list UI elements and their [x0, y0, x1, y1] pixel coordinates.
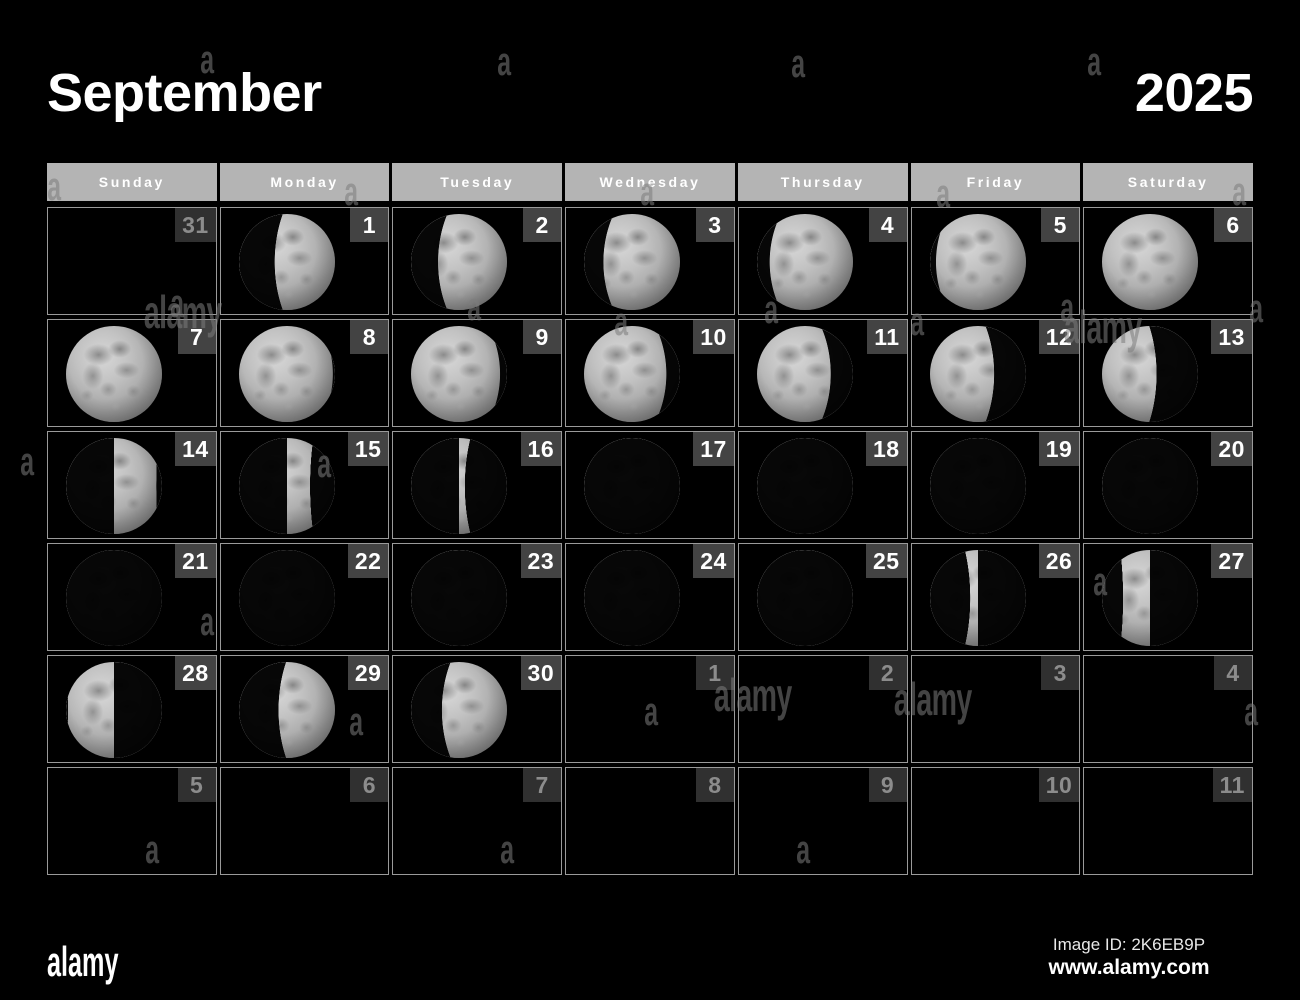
- calendar-page: September 2025 SundayMondayTuesdayWednes…: [0, 0, 1300, 1000]
- moon-phase-icon: [930, 326, 1026, 422]
- day-cell-next-4[interactable]: 4: [1083, 655, 1253, 763]
- day-number-badge: 4: [869, 208, 907, 242]
- week-row: 2829301234: [47, 655, 1253, 763]
- day-number-badge: 7: [178, 320, 216, 354]
- weekday-label: Thursday: [781, 174, 865, 190]
- moon-phase-icon: [1102, 550, 1198, 646]
- year-title: 2025: [1135, 66, 1253, 120]
- day-cell-current-13[interactable]: 13: [1083, 319, 1253, 427]
- day-cell-current-19[interactable]: 19: [911, 431, 1081, 539]
- week-row: 567891011: [47, 767, 1253, 875]
- moon-phase-icon: [1102, 326, 1198, 422]
- day-cell-current-20[interactable]: 20: [1083, 431, 1253, 539]
- moon-phase-icon: [757, 438, 853, 534]
- day-number-badge: 21: [175, 544, 216, 578]
- moon-shadow: [411, 214, 507, 310]
- day-number-badge: 2: [523, 208, 561, 242]
- day-cell-next-9[interactable]: 9: [738, 767, 908, 875]
- day-cell-next-1[interactable]: 1: [565, 655, 735, 763]
- moon-disc-waxing-crescent: [1102, 550, 1198, 646]
- weekday-label: Wednesday: [600, 174, 701, 190]
- moon-disc-waning-gibbous: [757, 326, 853, 422]
- moon-shadow: [584, 326, 680, 422]
- day-number-badge: 14: [175, 432, 216, 466]
- moon-phase-icon: [239, 326, 335, 422]
- weekday-header-monday: Monday: [220, 163, 390, 201]
- moon-disc-waning-crescent: [930, 438, 1026, 534]
- week-row: 14151617181920: [47, 431, 1253, 539]
- moon-phase-icon: [239, 214, 335, 310]
- day-number-badge: 1: [350, 208, 388, 242]
- day-number-badge: 5: [1041, 208, 1079, 242]
- moon-shadow: [930, 550, 1026, 646]
- moon-disc-waning-crescent: [1102, 438, 1198, 534]
- day-cell-current-11[interactable]: 11: [738, 319, 908, 427]
- day-cell-current-26[interactable]: 26: [911, 543, 1081, 651]
- day-number-badge: 27: [1211, 544, 1252, 578]
- moon-phase-icon: [66, 326, 162, 422]
- watermark-letter: a: [20, 440, 34, 485]
- moon-phase-icon: [584, 438, 680, 534]
- moon-phase-icon: [930, 550, 1026, 646]
- day-number-badge: 3: [696, 208, 734, 242]
- day-cell-current-7[interactable]: 7: [47, 319, 217, 427]
- week-row: 21222324252627: [47, 543, 1253, 651]
- day-number-badge: 29: [348, 656, 389, 690]
- weekday-header-saturday: Saturday: [1083, 163, 1253, 201]
- day-number-badge: 8: [350, 320, 388, 354]
- moon-disc-waxing-crescent: [930, 550, 1026, 646]
- weekday-header-tuesday: Tuesday: [392, 163, 562, 201]
- moon-shadow: [239, 438, 335, 534]
- moon-disc-full-moon: [66, 326, 162, 422]
- day-cell-current-2[interactable]: 2: [392, 207, 562, 315]
- moon-shadow: [411, 326, 507, 422]
- day-number-badge: 17: [693, 432, 734, 466]
- moon-disc-waxing-gibbous: [1102, 214, 1198, 310]
- day-number-badge: 4: [1214, 656, 1252, 690]
- day-cell-next-7[interactable]: 7: [392, 767, 562, 875]
- day-cell-current-16[interactable]: 16: [392, 431, 562, 539]
- moon-phase-icon: [411, 662, 507, 758]
- day-cell-current-24[interactable]: 24: [565, 543, 735, 651]
- moon-phase-icon: [757, 214, 853, 310]
- moon-disc-first-quarter: [66, 662, 162, 758]
- moon-phase-icon: [757, 326, 853, 422]
- moon-shadow: [239, 214, 335, 310]
- day-cell-current-28[interactable]: 28: [47, 655, 217, 763]
- moon-phase-icon: [930, 438, 1026, 534]
- moon-disc-waning-gibbous: [930, 326, 1026, 422]
- day-cell-current-21[interactable]: 21: [47, 543, 217, 651]
- day-cell-current-10[interactable]: 10: [565, 319, 735, 427]
- moon-shadow: [930, 438, 1026, 534]
- weekday-label: Monday: [270, 174, 339, 190]
- weekday-label: Saturday: [1128, 174, 1209, 190]
- day-number-badge: 8: [696, 768, 734, 802]
- day-number-badge: 23: [521, 544, 562, 578]
- day-cell-current-25[interactable]: 25: [738, 543, 908, 651]
- moon-disc-new-moon: [66, 550, 162, 646]
- day-number-badge: 6: [1214, 208, 1252, 242]
- moon-shadow: [1102, 550, 1198, 646]
- day-number-badge: 28: [175, 656, 216, 690]
- day-number-badge: 24: [693, 544, 734, 578]
- moon-disc-waxing-gibbous: [584, 214, 680, 310]
- moon-disc-waning-gibbous: [239, 326, 335, 422]
- moon-shadow: [411, 662, 507, 758]
- day-number-badge: 10: [693, 320, 734, 354]
- day-cell-next-11[interactable]: 11: [1083, 767, 1253, 875]
- footer-bar: alamy Image ID: 2K6EB9P www.alamy.com: [0, 926, 1300, 1000]
- day-cell-next-6[interactable]: 6: [220, 767, 390, 875]
- day-number-badge: 26: [1039, 544, 1080, 578]
- day-number-badge: 20: [1211, 432, 1252, 466]
- day-number-badge: 6: [350, 768, 388, 802]
- moon-shadow: [239, 662, 335, 758]
- moon-disc-waning-crescent: [584, 438, 680, 534]
- day-number-badge: 22: [348, 544, 389, 578]
- moon-disc-waning-gibbous: [1102, 326, 1198, 422]
- moon-disc-waxing-gibbous: [411, 214, 507, 310]
- day-cell-current-29[interactable]: 29: [220, 655, 390, 763]
- day-cell-next-8[interactable]: 8: [565, 767, 735, 875]
- moon-shadow: [239, 326, 335, 422]
- day-cell-previous-31[interactable]: 31: [47, 207, 217, 315]
- day-number-badge: 16: [521, 432, 562, 466]
- moon-disc-waning-gibbous: [584, 326, 680, 422]
- day-number-badge: 5: [178, 768, 216, 802]
- weekday-header-wednesday: Wednesday: [565, 163, 735, 201]
- alamy-logo: alamy: [47, 938, 118, 986]
- day-cell-current-15[interactable]: 15: [220, 431, 390, 539]
- day-number-badge: 3: [1041, 656, 1079, 690]
- day-cell-current-14[interactable]: 14: [47, 431, 217, 539]
- moon-phase-icon: [1102, 438, 1198, 534]
- moon-phase-icon: [1102, 214, 1198, 310]
- moon-shadow: [411, 438, 507, 534]
- moon-phase-icon: [411, 214, 507, 310]
- moon-phase-icon: [66, 550, 162, 646]
- moon-shadow: [1102, 438, 1198, 534]
- moon-shadow: [411, 550, 507, 646]
- moon-disc-last-quarter: [66, 438, 162, 534]
- day-cell-current-5[interactable]: 5: [911, 207, 1081, 315]
- day-cell-current-4[interactable]: 4: [738, 207, 908, 315]
- moon-phase-icon: [757, 550, 853, 646]
- day-number-badge: 13: [1211, 320, 1252, 354]
- moon-shadow: [239, 550, 335, 646]
- day-number-badge: 19: [1039, 432, 1080, 466]
- moon-shadow: [584, 550, 680, 646]
- calendar-weeks: 3112345678910111213141516171819202122232…: [47, 207, 1253, 875]
- moon-phase-icon: [411, 438, 507, 534]
- moon-shadow: [757, 326, 853, 422]
- calendar-grid: SundayMondayTuesdayWednesdayThursdayFrid…: [47, 163, 1253, 875]
- moon-disc-waning-crescent: [411, 438, 507, 534]
- moon-shadow: [584, 214, 680, 310]
- day-cell-current-1[interactable]: 1: [220, 207, 390, 315]
- moon-phase-icon: [239, 662, 335, 758]
- day-cell-current-27[interactable]: 27: [1083, 543, 1253, 651]
- moon-phase-icon: [411, 550, 507, 646]
- day-number-badge: 9: [523, 320, 561, 354]
- day-number-badge: 1: [696, 656, 734, 690]
- footer-meta: Image ID: 2K6EB9P www.alamy.com: [1004, 934, 1254, 980]
- month-title: September: [47, 66, 322, 120]
- moon-shadow: [66, 662, 162, 758]
- moon-shadow: [930, 214, 1026, 310]
- moon-phase-icon: [239, 550, 335, 646]
- moon-shadow: [757, 214, 853, 310]
- moon-disc-waxing-crescent: [757, 550, 853, 646]
- day-cell-current-6[interactable]: 6: [1083, 207, 1253, 315]
- day-number-badge: 18: [866, 432, 907, 466]
- weekday-label: Tuesday: [440, 174, 514, 190]
- moon-shadow: [757, 550, 853, 646]
- moon-shadow: [66, 438, 162, 534]
- weekday-header-row: SundayMondayTuesdayWednesdayThursdayFrid…: [47, 163, 1253, 201]
- day-cell-next-5[interactable]: 5: [47, 767, 217, 875]
- day-cell-current-18[interactable]: 18: [738, 431, 908, 539]
- moon-shadow: [66, 550, 162, 646]
- moon-phase-icon: [239, 438, 335, 534]
- day-cell-current-22[interactable]: 22: [220, 543, 390, 651]
- day-cell-current-3[interactable]: 3: [565, 207, 735, 315]
- day-number-badge: 31: [175, 208, 216, 242]
- weekday-header-thursday: Thursday: [738, 163, 908, 201]
- moon-shadow: [1102, 214, 1198, 310]
- moon-disc-waxing-gibbous: [930, 214, 1026, 310]
- moon-phase-icon: [66, 662, 162, 758]
- day-cell-current-30[interactable]: 30: [392, 655, 562, 763]
- moon-disc-waxing-crescent: [584, 550, 680, 646]
- day-number-badge: 11: [1213, 768, 1252, 802]
- image-id-text: Image ID: 2K6EB9P: [1004, 934, 1254, 956]
- moon-phase-icon: [930, 214, 1026, 310]
- moon-disc-waxing-gibbous: [757, 214, 853, 310]
- moon-disc-waxing-crescent: [411, 550, 507, 646]
- moon-disc-waxing-gibbous: [239, 214, 335, 310]
- moon-disc-waning-crescent: [239, 438, 335, 534]
- day-number-badge: 11: [867, 320, 906, 354]
- moon-disc-waxing-gibbous: [239, 662, 335, 758]
- day-cell-current-9[interactable]: 9: [392, 319, 562, 427]
- day-number-badge: 12: [1039, 320, 1080, 354]
- moon-phase-icon: [66, 438, 162, 534]
- day-number-badge: 15: [348, 432, 389, 466]
- moon-phase-icon: [584, 326, 680, 422]
- week-row: 31123456: [47, 207, 1253, 315]
- alamy-url[interactable]: www.alamy.com: [1004, 956, 1254, 980]
- moon-disc-waning-crescent: [757, 438, 853, 534]
- moon-disc-waxing-gibbous: [411, 662, 507, 758]
- day-cell-current-23[interactable]: 23: [392, 543, 562, 651]
- week-row: 78910111213: [47, 319, 1253, 427]
- moon-phase-icon: [584, 214, 680, 310]
- day-number-badge: 2: [869, 656, 907, 690]
- moon-disc-new-moon: [239, 550, 335, 646]
- weekday-header-sunday: Sunday: [47, 163, 217, 201]
- day-cell-current-17[interactable]: 17: [565, 431, 735, 539]
- moon-disc-waning-gibbous: [411, 326, 507, 422]
- day-number-badge: 30: [521, 656, 562, 690]
- day-cell-current-12[interactable]: 12: [911, 319, 1081, 427]
- day-cell-current-8[interactable]: 8: [220, 319, 390, 427]
- moon-shadow: [584, 438, 680, 534]
- moon-shadow: [930, 326, 1026, 422]
- day-cell-next-3[interactable]: 3: [911, 655, 1081, 763]
- moon-phase-icon: [411, 326, 507, 422]
- day-cell-next-10[interactable]: 10: [911, 767, 1081, 875]
- weekday-label: Sunday: [99, 174, 165, 190]
- moon-shadow: [757, 438, 853, 534]
- day-number-badge: 25: [866, 544, 907, 578]
- weekday-header-friday: Friday: [911, 163, 1081, 201]
- day-number-badge: 7: [523, 768, 561, 802]
- moon-phase-icon: [584, 550, 680, 646]
- weekday-label: Friday: [967, 174, 1025, 190]
- day-number-badge: 10: [1039, 768, 1080, 802]
- day-cell-next-2[interactable]: 2: [738, 655, 908, 763]
- calendar-title-bar: September 2025: [47, 55, 1253, 130]
- moon-shadow: [1102, 326, 1198, 422]
- day-number-badge: 9: [869, 768, 907, 802]
- moon-shadow: [66, 326, 162, 422]
